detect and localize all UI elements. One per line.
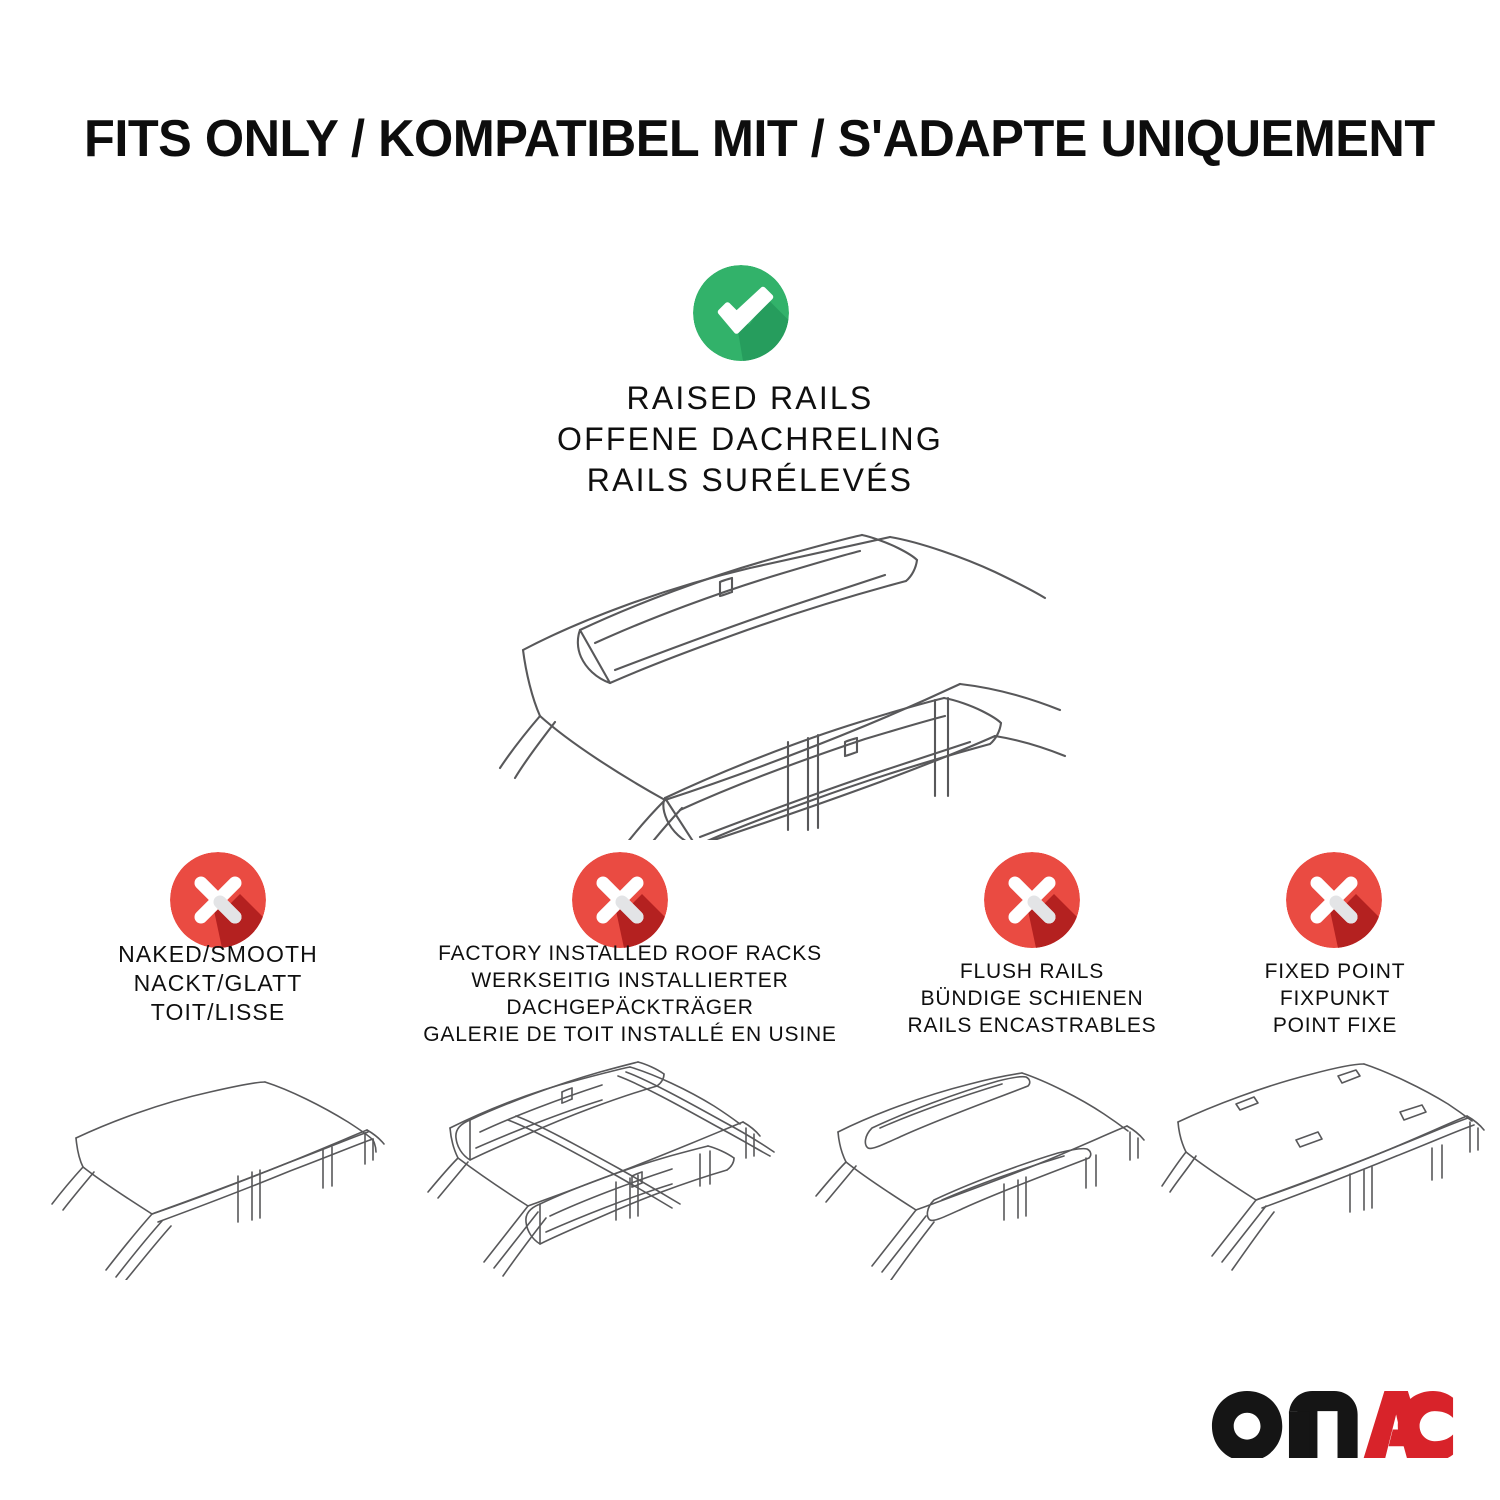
roof-fixed-point-illustration xyxy=(1160,1060,1500,1280)
label-line-fr: TOIT/LISSE xyxy=(38,998,398,1027)
compatible-label-line-de: OFFENE DACHRELING xyxy=(450,419,1050,460)
label-line-fr: POINT FIXE xyxy=(1204,1012,1466,1039)
label-line-de-1: WERKSEITIG INSTALLIERTER xyxy=(395,967,865,994)
roof-flush-rails-illustration xyxy=(790,1060,1150,1280)
label-line-fr: GALERIE DE TOIT INSTALLÉ EN USINE xyxy=(395,1021,865,1048)
incompatible-label-fixed-point: FIXED POINT FIXPUNKT POINT FIXE xyxy=(1204,958,1466,1039)
label-line-de-2: DACHGEPÄCKTRÄGER xyxy=(395,994,865,1021)
label-line-fr: RAILS ENCASTRABLES xyxy=(848,1012,1216,1039)
label-line-en: FLUSH RAILS xyxy=(848,958,1216,985)
label-line-de: BÜNDIGE SCHIENEN xyxy=(848,985,1216,1012)
label-line-en: NAKED/SMOOTH xyxy=(38,940,398,969)
cross-circle-icon xyxy=(572,852,668,948)
incompatible-label-factory-racks: FACTORY INSTALLED ROOF RACKS WERKSEITIG … xyxy=(395,940,865,1048)
page-title: FITS ONLY / KOMPATIBEL MIT / S'ADAPTE UN… xyxy=(84,108,1384,170)
compatible-label-line-en: RAISED RAILS xyxy=(450,378,1050,419)
cross-circle-icon xyxy=(170,852,266,948)
label-line-en: FIXED POINT xyxy=(1204,958,1466,985)
cross-circle-icon xyxy=(984,852,1080,948)
compatible-label: RAISED RAILS OFFENE DACHRELING RAILS SUR… xyxy=(450,378,1050,501)
cross-circle-icon xyxy=(1286,852,1382,948)
label-line-de: NACKT/GLATT xyxy=(38,969,398,998)
incompatible-label-flush-rails: FLUSH RAILS BÜNDIGE SCHIENEN RAILS ENCAS… xyxy=(848,958,1216,1039)
incompatible-label-naked-smooth: NAKED/SMOOTH NACKT/GLATT TOIT/LISSE xyxy=(38,940,398,1027)
roof-naked-smooth-illustration xyxy=(40,1060,400,1280)
roof-factory-installed-racks-illustration xyxy=(410,1058,775,1280)
label-line-de: FIXPUNKT xyxy=(1204,985,1466,1012)
label-line-en: FACTORY INSTALLED ROOF RACKS xyxy=(395,940,865,967)
omac-logo xyxy=(1205,1386,1460,1458)
compatible-label-line-fr: RAILS SURÉLEVÉS xyxy=(450,460,1050,501)
check-circle-icon xyxy=(693,265,789,361)
roof-with-raised-rails-illustration xyxy=(420,510,1080,840)
